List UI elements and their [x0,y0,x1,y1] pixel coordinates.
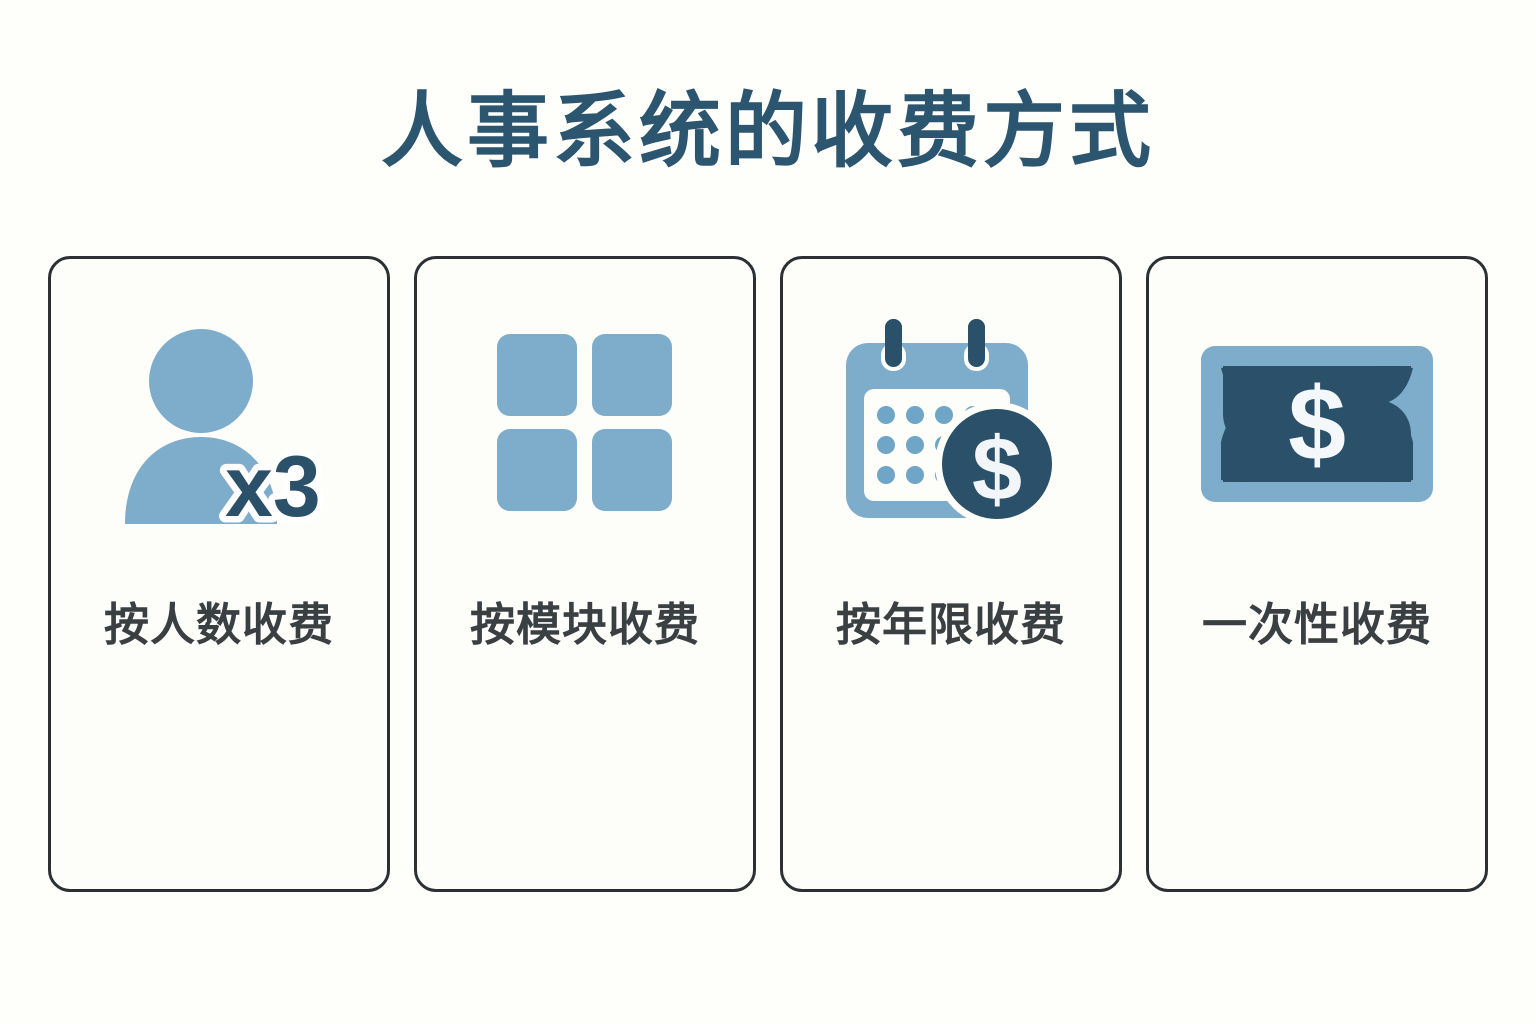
card-label-by-module: 按模块收费 [417,597,753,653]
banknote-dollar-text: $ [1288,367,1346,483]
card-by-headcount[interactable]: x3 x3 按人数收费 [48,256,390,892]
person-multiplier-icon: x3 x3 [51,259,387,589]
card-label-by-term: 按年限收费 [783,597,1119,653]
card-by-term[interactable]: $ 按年限收费 [780,256,1122,892]
page-title: 人事系统的收费方式 [0,82,1536,182]
card-by-module[interactable]: 按模块收费 [414,256,756,892]
card-label-one-time-fee: 一次性收费 [1149,597,1485,653]
card-one-time-fee[interactable]: $ 一次性收费 [1146,256,1488,892]
card-label-by-headcount: 按人数收费 [51,597,387,653]
calendar-dollar-icon: $ [783,259,1119,589]
calendar-coin-dollar-text: $ [972,420,1022,520]
banknote-dollar-icon: $ [1149,259,1485,589]
infographic-page: 人事系统的收费方式 x3 x3 按人数收费 [0,0,1536,1024]
grid-modules-icon [417,259,753,589]
person-multiplier-badge-text: x3 [225,439,321,529]
pricing-method-card-row: x3 x3 按人数收费 按模块收费 [48,256,1488,892]
